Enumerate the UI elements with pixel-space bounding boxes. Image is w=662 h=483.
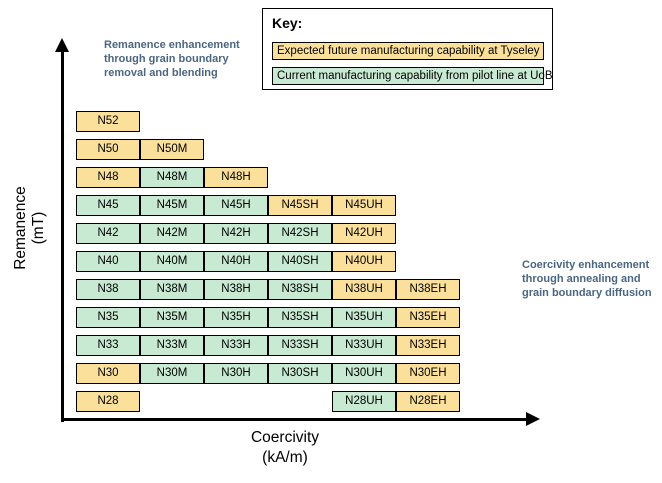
grade-cell-n38[interactable]: N38 bbox=[76, 279, 140, 300]
grade-cell-n33sh[interactable]: N33SH bbox=[268, 335, 332, 356]
grade-cell-n35eh[interactable]: N35EH bbox=[396, 307, 460, 328]
grade-cell-n35uh[interactable]: N35UH bbox=[332, 307, 396, 328]
key-title: Key: bbox=[272, 15, 302, 31]
grade-cell-n30[interactable]: N30 bbox=[76, 363, 140, 384]
annotation-remanence-enhancement: Remanence enhancement through grain boun… bbox=[104, 38, 254, 80]
grade-cell-n48[interactable]: N48 bbox=[76, 167, 140, 188]
annotation-coercivity-enhancement: Coercivity enhancement through annealing… bbox=[522, 258, 662, 300]
grade-cell-n35sh[interactable]: N35SH bbox=[268, 307, 332, 328]
grade-cell-n30uh[interactable]: N30UH bbox=[332, 363, 396, 384]
grade-cell-n48m[interactable]: N48M bbox=[140, 167, 204, 188]
grade-cell-n33eh[interactable]: N33EH bbox=[396, 335, 460, 356]
grade-cell-n33h[interactable]: N33H bbox=[204, 335, 268, 356]
grade-cell-n50m[interactable]: N50M bbox=[140, 139, 204, 160]
grade-cell-n42[interactable]: N42 bbox=[76, 223, 140, 244]
magnet-grade-chart: Remanence (mT) Coercivity (kA/m) Remanen… bbox=[0, 0, 662, 483]
grade-cell-n40uh[interactable]: N40UH bbox=[332, 251, 396, 272]
grade-cell-n28[interactable]: N28 bbox=[76, 391, 140, 412]
grade-cell-n28eh[interactable]: N28EH bbox=[396, 391, 460, 412]
grade-cell-n35h[interactable]: N35H bbox=[204, 307, 268, 328]
grade-cell-n45uh[interactable]: N45UH bbox=[332, 195, 396, 216]
grade-cell-n40sh[interactable]: N40SH bbox=[268, 251, 332, 272]
x-axis-arrow-icon bbox=[526, 412, 540, 426]
grade-cell-n38eh[interactable]: N38EH bbox=[396, 279, 460, 300]
grade-cell-n42h[interactable]: N42H bbox=[204, 223, 268, 244]
grade-cell-n40[interactable]: N40 bbox=[76, 251, 140, 272]
grade-cell-n42m[interactable]: N42M bbox=[140, 223, 204, 244]
y-axis-arrow-icon bbox=[55, 38, 69, 52]
grade-cell-n50[interactable]: N50 bbox=[76, 139, 140, 160]
grade-cell-n33m[interactable]: N33M bbox=[140, 335, 204, 356]
grade-cell-n38m[interactable]: N38M bbox=[140, 279, 204, 300]
grade-cell-n42uh[interactable]: N42UH bbox=[332, 223, 396, 244]
grade-cell-n45[interactable]: N45 bbox=[76, 195, 140, 216]
grade-cell-n35[interactable]: N35 bbox=[76, 307, 140, 328]
key-legend-box: Key: Expected future manufacturing capab… bbox=[262, 8, 553, 90]
grade-cell-n45h[interactable]: N45H bbox=[204, 195, 268, 216]
grade-cell-n33[interactable]: N33 bbox=[76, 335, 140, 356]
grade-cell-n38sh[interactable]: N38SH bbox=[268, 279, 332, 300]
grade-cell-n38uh[interactable]: N38UH bbox=[332, 279, 396, 300]
grade-cell-n48h[interactable]: N48H bbox=[204, 167, 268, 188]
grade-cell-n45sh[interactable]: N45SH bbox=[268, 195, 332, 216]
grade-cell-n40m[interactable]: N40M bbox=[140, 251, 204, 272]
grade-cell-n52[interactable]: N52 bbox=[76, 111, 140, 132]
legend-item-current-capability: Current manufacturing capability from pi… bbox=[272, 67, 544, 85]
x-axis-line bbox=[61, 418, 529, 421]
legend-item-expected-future: Expected future manufacturing capability… bbox=[272, 42, 544, 60]
grade-cell-n28uh[interactable]: N28UH bbox=[332, 391, 396, 412]
grade-cell-n30sh[interactable]: N30SH bbox=[268, 363, 332, 384]
grade-cell-n30h[interactable]: N30H bbox=[204, 363, 268, 384]
grade-cell-n42sh[interactable]: N42SH bbox=[268, 223, 332, 244]
grade-cell-n30eh[interactable]: N30EH bbox=[396, 363, 460, 384]
grade-cell-n35m[interactable]: N35M bbox=[140, 307, 204, 328]
y-axis-title: Remanence (mT) bbox=[12, 168, 48, 288]
x-axis-title: Coercivity (kA/m) bbox=[200, 428, 370, 468]
grade-cell-n45m[interactable]: N45M bbox=[140, 195, 204, 216]
y-axis-line bbox=[61, 50, 64, 422]
grade-cell-n33uh[interactable]: N33UH bbox=[332, 335, 396, 356]
grade-cell-n30m[interactable]: N30M bbox=[140, 363, 204, 384]
grade-cell-n38h[interactable]: N38H bbox=[204, 279, 268, 300]
grade-cell-n40h[interactable]: N40H bbox=[204, 251, 268, 272]
